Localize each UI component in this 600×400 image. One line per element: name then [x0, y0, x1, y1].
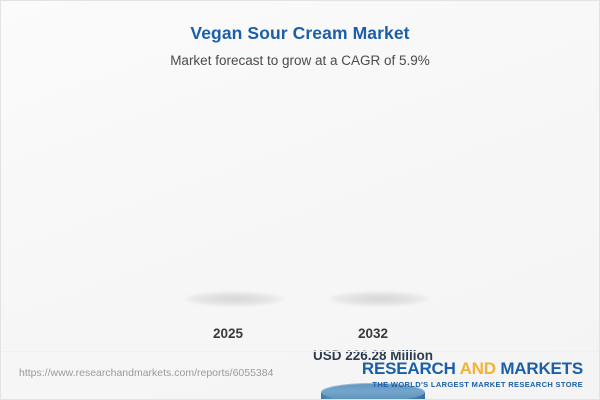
- logo-accent-text: AND: [460, 359, 496, 378]
- bar-shadow: [182, 291, 286, 307]
- logo-primary-text: RESEARCH: [362, 359, 460, 378]
- logo-wordmark: RESEARCH AND MARKETS: [362, 360, 583, 378]
- logo-secondary-text: MARKETS: [496, 359, 583, 378]
- logo-tagline: THE WORLD'S LARGEST MARKET RESEARCH STOR…: [362, 380, 583, 389]
- source-url[interactable]: https://www.researchandmarkets.com/repor…: [19, 367, 273, 379]
- research-and-markets-logo[interactable]: RESEARCH AND MARKETS THE WORLD'S LARGEST…: [362, 360, 583, 389]
- chart-title: Vegan Sour Cream Market: [1, 23, 599, 44]
- footer: https://www.researchandmarkets.com/repor…: [1, 351, 599, 399]
- chart-card: Vegan Sour Cream Market Market forecast …: [0, 0, 600, 400]
- bar-shadow: [327, 291, 431, 307]
- category-label-2032: 2032: [358, 326, 388, 341]
- category-label-2025: 2025: [213, 326, 243, 341]
- chart-subtitle: Market forecast to grow at a CAGR of 5.9…: [1, 53, 599, 68]
- plot-area: USD 150.85 Million 2025 USD 226.28 Milli…: [1, 81, 600, 343]
